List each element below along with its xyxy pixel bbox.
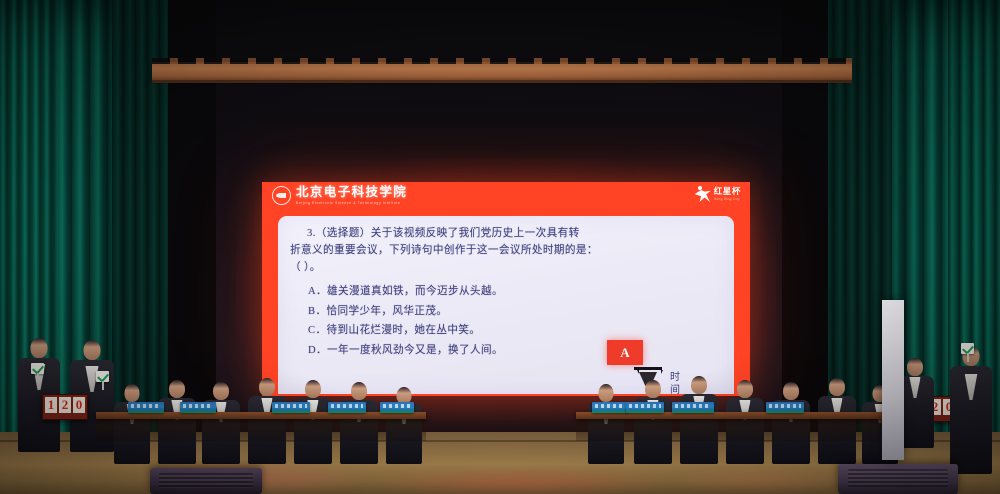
name-placard bbox=[272, 402, 310, 413]
name-placard bbox=[766, 402, 804, 413]
star-figure-icon bbox=[695, 185, 712, 203]
name-placard bbox=[328, 402, 366, 413]
option-b: B．恰同学少年，风华正茂。 bbox=[308, 302, 708, 322]
option-a: A．雄关漫道真如铁，而今迈步从头越。 bbox=[308, 282, 708, 302]
answer-options: A．雄关漫道真如铁，而今迈步从头越。 B．恰同学少年，风华正茂。 C．待到山花烂… bbox=[308, 282, 708, 360]
slide-header: 北京电子科技学院 Beijing Electronic Science & Te… bbox=[262, 182, 750, 216]
stage-scene: 北京电子科技学院 Beijing Electronic Science & Te… bbox=[0, 0, 1000, 494]
question-line-1: 3.（选择题）关于该视频反映了我们党历史上一次具有转 bbox=[290, 225, 720, 242]
scoreboard-left: 1 2 0 bbox=[42, 394, 88, 420]
contestant-head bbox=[125, 384, 140, 402]
hourglass-top-cap bbox=[634, 367, 662, 370]
monitor-grille bbox=[848, 469, 949, 486]
question-text: 3.（选择题）关于该视频反映了我们党历史上一次具有转 折意义的重要会议，下列诗句… bbox=[290, 225, 720, 277]
slide-body: 3.（选择题）关于该视频反映了我们党历史上一次具有转 折意义的重要会议，下列诗句… bbox=[278, 216, 734, 394]
contestant-head bbox=[599, 384, 614, 402]
institution-name-en: Beijing Electronic Science & Technology … bbox=[296, 201, 407, 205]
vote-paddle-stick-right-1 bbox=[967, 353, 969, 362]
scoreboard-digit: 2 bbox=[59, 397, 71, 413]
speaker-column bbox=[882, 300, 904, 460]
contestant-head bbox=[351, 382, 367, 400]
option-d: D．一年一度秋风劲今又是，换了人间。 bbox=[308, 341, 708, 361]
question-line-3: （ ）。 bbox=[290, 259, 720, 276]
name-placard bbox=[592, 402, 628, 413]
name-placard bbox=[380, 402, 414, 413]
proscenium-valance bbox=[152, 62, 852, 81]
contestant-head bbox=[737, 380, 753, 398]
name-placard bbox=[180, 402, 216, 413]
contestant-head bbox=[783, 382, 799, 400]
monitor-grille bbox=[159, 473, 253, 488]
cup-logo: 红星杯 Hong Xing Cup bbox=[695, 185, 741, 203]
name-placard bbox=[626, 402, 664, 413]
contestant-head bbox=[169, 380, 185, 398]
judge-head bbox=[84, 340, 101, 360]
scoreboard-digit: 0 bbox=[73, 397, 85, 413]
contestant-head bbox=[305, 380, 321, 398]
vote-paddle-stick-left-2 bbox=[102, 381, 104, 390]
table-skirt-left bbox=[96, 419, 426, 441]
institution-logo: 北京电子科技学院 Beijing Electronic Science & Te… bbox=[272, 186, 407, 205]
projection-screen: 北京电子科技学院 Beijing Electronic Science & Te… bbox=[262, 182, 750, 396]
contestant-head bbox=[213, 382, 229, 400]
contestant-head bbox=[691, 376, 707, 394]
stage-monitor-left bbox=[150, 468, 262, 494]
question-line-2: 折意义的重要会议，下列诗句中创作于这一会议所处时期的是： bbox=[290, 242, 720, 259]
option-c: C．待到山花烂漫时，她在丛中笑。 bbox=[308, 321, 708, 341]
vote-paddle-stick-left-1 bbox=[37, 373, 39, 382]
judge-head bbox=[907, 358, 923, 376]
name-placard bbox=[128, 402, 164, 413]
contestant-table-left bbox=[96, 412, 426, 419]
contestant-head bbox=[829, 378, 845, 396]
name-placard bbox=[672, 402, 714, 413]
cup-name-en: Hong Xing Cup bbox=[714, 197, 741, 201]
contestant-head bbox=[645, 380, 661, 398]
institution-name-cn: 北京电子科技学院 bbox=[296, 186, 407, 199]
contestant-table-right bbox=[576, 412, 902, 419]
answer-chip: A bbox=[607, 340, 643, 365]
institution-seal-icon bbox=[272, 186, 291, 205]
judge-left-1 bbox=[18, 332, 60, 452]
contestant-head bbox=[259, 378, 275, 396]
cup-name-cn: 红星杯 bbox=[714, 187, 741, 196]
stage-monitor-right bbox=[838, 464, 958, 494]
judge-right-1 bbox=[950, 338, 992, 474]
judge-head bbox=[31, 338, 48, 358]
answer-chip-label: A bbox=[620, 345, 629, 361]
table-skirt-right bbox=[576, 419, 902, 441]
scoreboard-digit: 1 bbox=[45, 397, 57, 413]
